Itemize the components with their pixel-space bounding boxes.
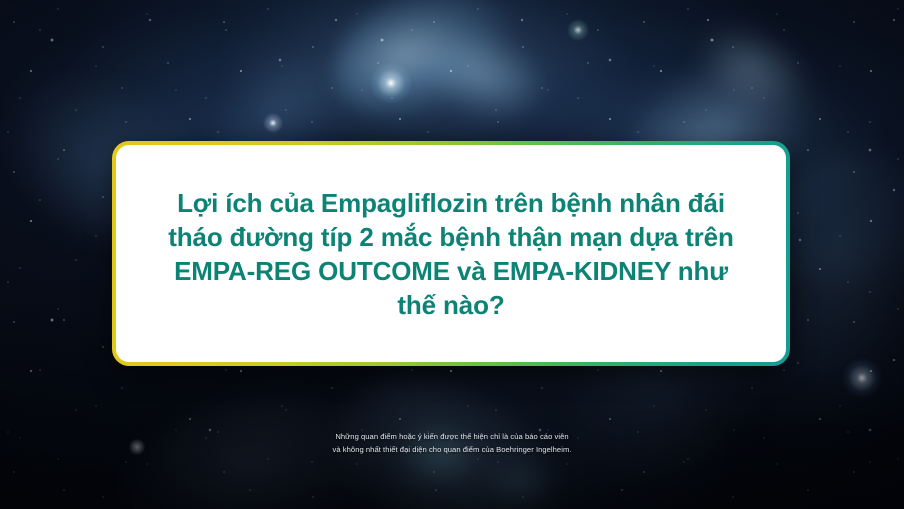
presentation-slide: Lợi ích của Empagliflozin trên bệnh nhân… — [0, 0, 904, 509]
disclaimer-text: Những quan điểm hoặc ý kiến được thể hiệ… — [0, 430, 904, 456]
title-card: Lợi ích của Empagliflozin trên bệnh nhân… — [112, 141, 790, 366]
title-card-inner: Lợi ích của Empagliflozin trên bệnh nhân… — [116, 145, 786, 362]
page-title: Lợi ích của Empagliflozin trên bệnh nhân… — [144, 186, 757, 322]
